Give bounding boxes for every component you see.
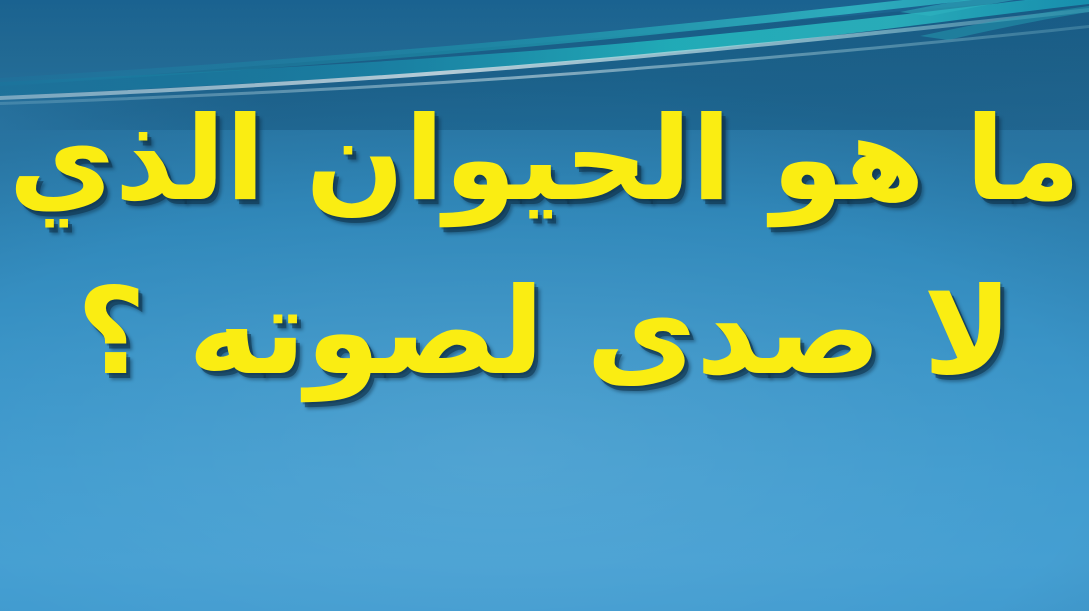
riddle-line-2: لا صدى لصوته ؟ [0, 242, 1089, 424]
riddle-line-1: ما هو الحيوان الذي [0, 72, 1089, 248]
riddle-text-block: ما هو الحيوان الذي لا صدى لصوته ؟ [0, 72, 1089, 425]
slide-canvas: ما هو الحيوان الذي لا صدى لصوته ؟ [0, 0, 1089, 611]
